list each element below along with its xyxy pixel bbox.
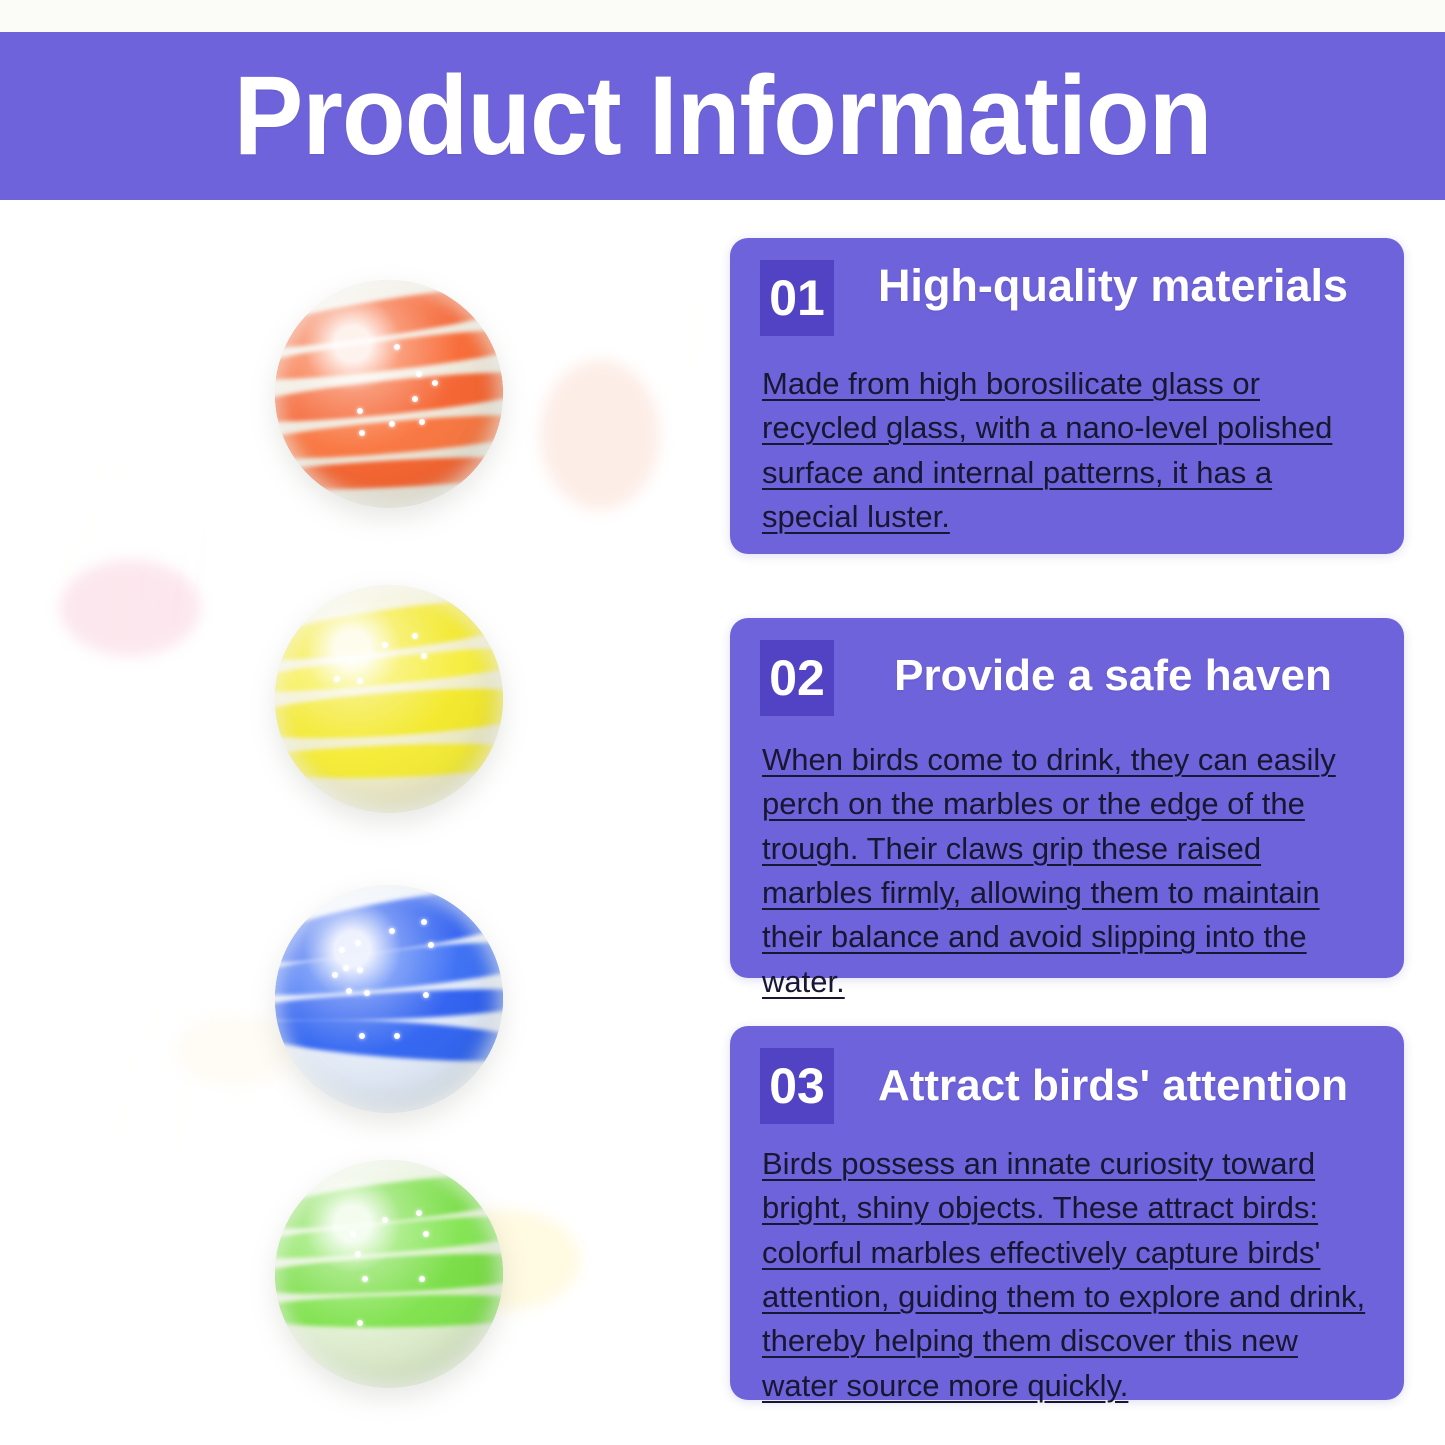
sparkle xyxy=(357,408,363,414)
feature-card-header: 01 High-quality materials xyxy=(760,260,1374,336)
feature-card-header: 03 Attract birds' attention xyxy=(760,1048,1374,1124)
sparkle xyxy=(357,1320,363,1326)
feature-number-badge: 02 xyxy=(760,640,834,716)
feature-description: Birds possess an innate curiosity toward… xyxy=(760,1142,1374,1408)
page-title: Product Information xyxy=(234,60,1212,172)
feature-number-badge: 01 xyxy=(760,260,834,336)
feature-card-02[interactable]: 02 Provide a safe haven When birds come … xyxy=(730,618,1404,978)
header-banner: Product Information xyxy=(0,32,1445,200)
feature-card-03[interactable]: 03 Attract birds' attention Birds posses… xyxy=(730,1026,1404,1400)
blue-marble xyxy=(275,885,503,1113)
sparkle xyxy=(332,972,338,978)
sparkle xyxy=(423,1231,429,1237)
sparkle xyxy=(355,1251,361,1257)
sparkle xyxy=(350,656,356,662)
sparkle xyxy=(412,633,418,639)
yellow-marble xyxy=(275,585,503,813)
sparkle xyxy=(394,344,400,350)
sparkle xyxy=(355,940,361,946)
marble-item xyxy=(275,280,503,508)
sparkle xyxy=(419,1276,425,1282)
feature-title: Attract birds' attention xyxy=(852,1048,1374,1111)
sparkle xyxy=(394,1033,400,1039)
marble-item xyxy=(275,885,503,1113)
feature-title: Provide a safe haven xyxy=(852,640,1374,701)
sparkle xyxy=(350,1231,356,1237)
marble-item xyxy=(275,585,503,813)
feature-card-header: 02 Provide a safe haven xyxy=(760,640,1374,716)
sparkle xyxy=(362,1276,368,1282)
feature-description: When birds come to drink, they can easil… xyxy=(760,738,1374,1004)
sparkle xyxy=(339,947,345,953)
marble-item xyxy=(275,1160,503,1388)
sparkle xyxy=(419,419,425,425)
sparkle xyxy=(428,942,434,948)
feature-title: High-quality materials xyxy=(852,260,1374,313)
feature-number-badge: 03 xyxy=(760,1048,834,1124)
feature-description: Made from high borosilicate glass or rec… xyxy=(760,362,1374,539)
feature-card-list: 01 High-quality materials Made from high… xyxy=(730,0,1404,1445)
marble-image-column xyxy=(0,200,720,1445)
sparkle xyxy=(364,990,370,996)
feature-card-01[interactable]: 01 High-quality materials Made from high… xyxy=(730,238,1404,554)
product-information-page: Product Information xyxy=(0,0,1445,1445)
green-marble xyxy=(275,1160,503,1388)
sparkle xyxy=(346,988,352,994)
orange-marble xyxy=(275,280,503,508)
